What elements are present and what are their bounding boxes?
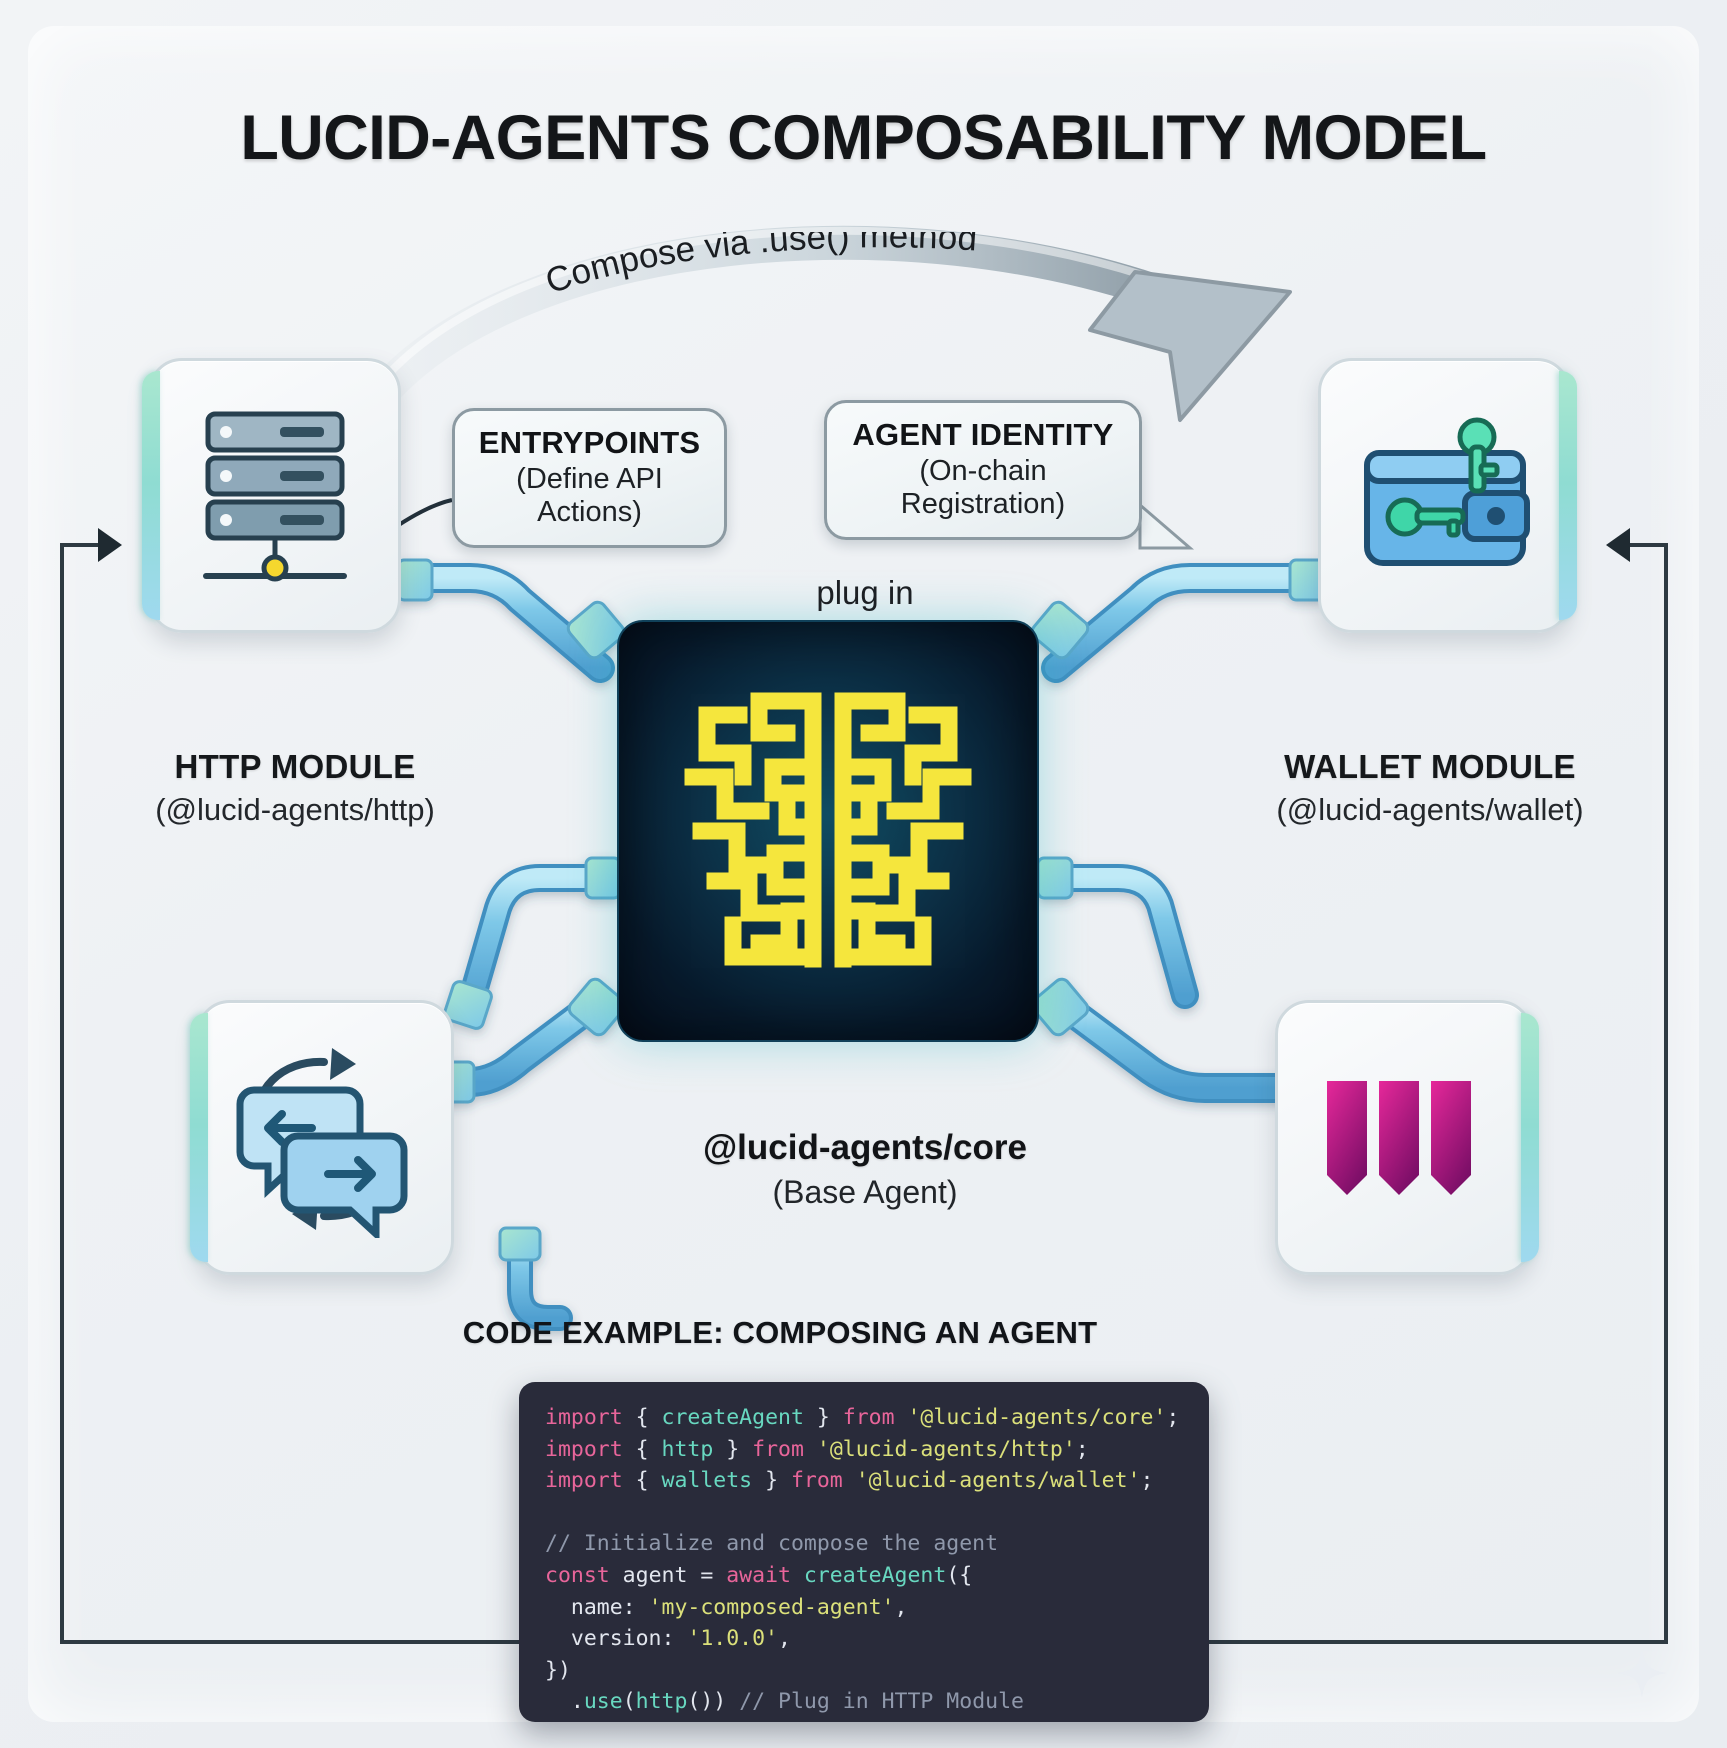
wallet-module-title: WALLET MODULE bbox=[1160, 748, 1700, 786]
caption-core: @lucid-agents/core (Base Agent) bbox=[500, 1128, 1230, 1211]
code-example-heading: CODE EXAMPLE: COMPOSING AN AGENT bbox=[430, 1315, 1130, 1351]
page-title: LUCID-AGENTS COMPOSABILITY MODEL bbox=[28, 102, 1699, 174]
diagram-canvas: LUCID-AGENTS COMPOSABILITY MODEL bbox=[0, 0, 1727, 1748]
server-rack-icon bbox=[180, 396, 370, 596]
callout-agent-identity[interactable]: AGENT IDENTITY (On-chain Registration) bbox=[824, 400, 1142, 540]
callout-agent-identity-title: AGENT IDENTITY bbox=[849, 417, 1117, 453]
core-subtitle: (Base Agent) bbox=[500, 1174, 1230, 1211]
callout-entrypoints-subtitle: (Define API Actions) bbox=[477, 463, 702, 529]
module-card-brand[interactable] bbox=[1275, 1000, 1533, 1275]
code-content: import { createAgent } from '@lucid-agen… bbox=[545, 1402, 1183, 1722]
plug-in-label: plug in bbox=[700, 574, 1030, 612]
wallet-key-icon bbox=[1345, 401, 1545, 591]
caption-wallet-module: WALLET MODULE (@lucid-agents/wallet) bbox=[1160, 748, 1700, 828]
chat-exchange-icon bbox=[220, 1038, 430, 1238]
core-title: @lucid-agents/core bbox=[500, 1128, 1230, 1168]
wallet-module-package: (@lucid-agents/wallet) bbox=[1160, 792, 1700, 828]
callout-entrypoints[interactable]: ENTRYPOINTS (Define API Actions) bbox=[452, 408, 727, 548]
w-brand-logo-icon bbox=[1309, 1063, 1499, 1213]
brain-circuit-icon bbox=[663, 681, 993, 981]
code-block[interactable]: import { createAgent } from '@lucid-agen… bbox=[519, 1382, 1209, 1722]
module-card-http[interactable] bbox=[148, 358, 401, 633]
module-card-messaging[interactable] bbox=[196, 1000, 454, 1275]
sparkle-icon bbox=[1615, 1646, 1669, 1700]
http-module-package: (@lucid-agents/http) bbox=[30, 792, 560, 828]
core-chip[interactable] bbox=[617, 620, 1039, 1042]
module-card-wallet[interactable] bbox=[1318, 358, 1571, 633]
callout-entrypoints-title: ENTRYPOINTS bbox=[477, 425, 702, 461]
callout-agent-identity-subtitle: (On-chain Registration) bbox=[849, 455, 1117, 521]
http-module-title: HTTP MODULE bbox=[30, 748, 560, 786]
caption-http-module: HTTP MODULE (@lucid-agents/http) bbox=[30, 748, 560, 828]
